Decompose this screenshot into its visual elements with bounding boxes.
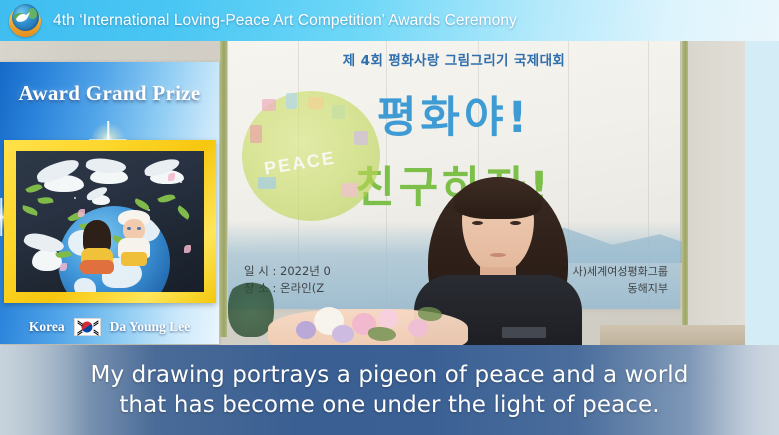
artwork-dove bbox=[82, 159, 140, 191]
south-korea-flag-icon bbox=[74, 318, 101, 336]
winner-credit: Korea Da Young Lee bbox=[0, 318, 219, 336]
screen-root: 4th ‘International Loving-Peace Art Comp… bbox=[0, 0, 779, 435]
right-side-panel bbox=[745, 41, 779, 345]
speaker-eye-left bbox=[472, 221, 483, 225]
organizer-line-1: 사)세계여성평화그룹 bbox=[573, 263, 668, 280]
banner-peace-illustration: PEACE bbox=[242, 91, 380, 221]
subtitle-line-2: that has become one under the light of p… bbox=[119, 390, 659, 420]
subtitle-line-1: My drawing portrays a pigeon of peace an… bbox=[91, 360, 689, 390]
subtitle-bar: My drawing portrays a pigeon of peace an… bbox=[0, 345, 779, 435]
award-title: Award Grand Prize bbox=[0, 81, 219, 106]
speaker-eye-right bbox=[510, 221, 521, 225]
organizer-line-2: 동해지부 bbox=[573, 280, 668, 297]
table-edge bbox=[600, 325, 750, 345]
winner-country: Korea bbox=[29, 319, 65, 335]
artwork-child-left bbox=[80, 220, 114, 270]
wall-trim-left bbox=[220, 41, 227, 337]
banner-organizer: 사)세계여성평화그룹 동해지부 bbox=[573, 263, 668, 297]
artwork-canvas bbox=[16, 151, 204, 292]
wall-right bbox=[688, 41, 745, 345]
award-overlay-panel: Award Grand Prize bbox=[0, 62, 219, 344]
peace-globe-dove-logo-icon bbox=[9, 4, 42, 37]
flower-bouquet bbox=[268, 303, 468, 345]
artwork-child-right bbox=[114, 210, 154, 264]
peace-word: PEACE bbox=[263, 147, 337, 179]
speaker-mouth bbox=[490, 253, 506, 257]
title-bar: 4th ‘International Loving-Peace Art Comp… bbox=[0, 0, 779, 41]
speaker-fringe bbox=[454, 177, 542, 219]
speaker-shirt-tag bbox=[502, 327, 546, 338]
logo-dove-icon bbox=[15, 11, 31, 24]
artwork-frame bbox=[4, 140, 216, 303]
banner-subtitle: 제 4회 평화사랑 그림그리기 국제대회 bbox=[228, 49, 680, 69]
winner-name: Da Young Lee bbox=[110, 319, 191, 335]
page-title: 4th ‘International Loving-Peace Art Comp… bbox=[53, 12, 517, 30]
artwork-dove bbox=[86, 189, 116, 209]
